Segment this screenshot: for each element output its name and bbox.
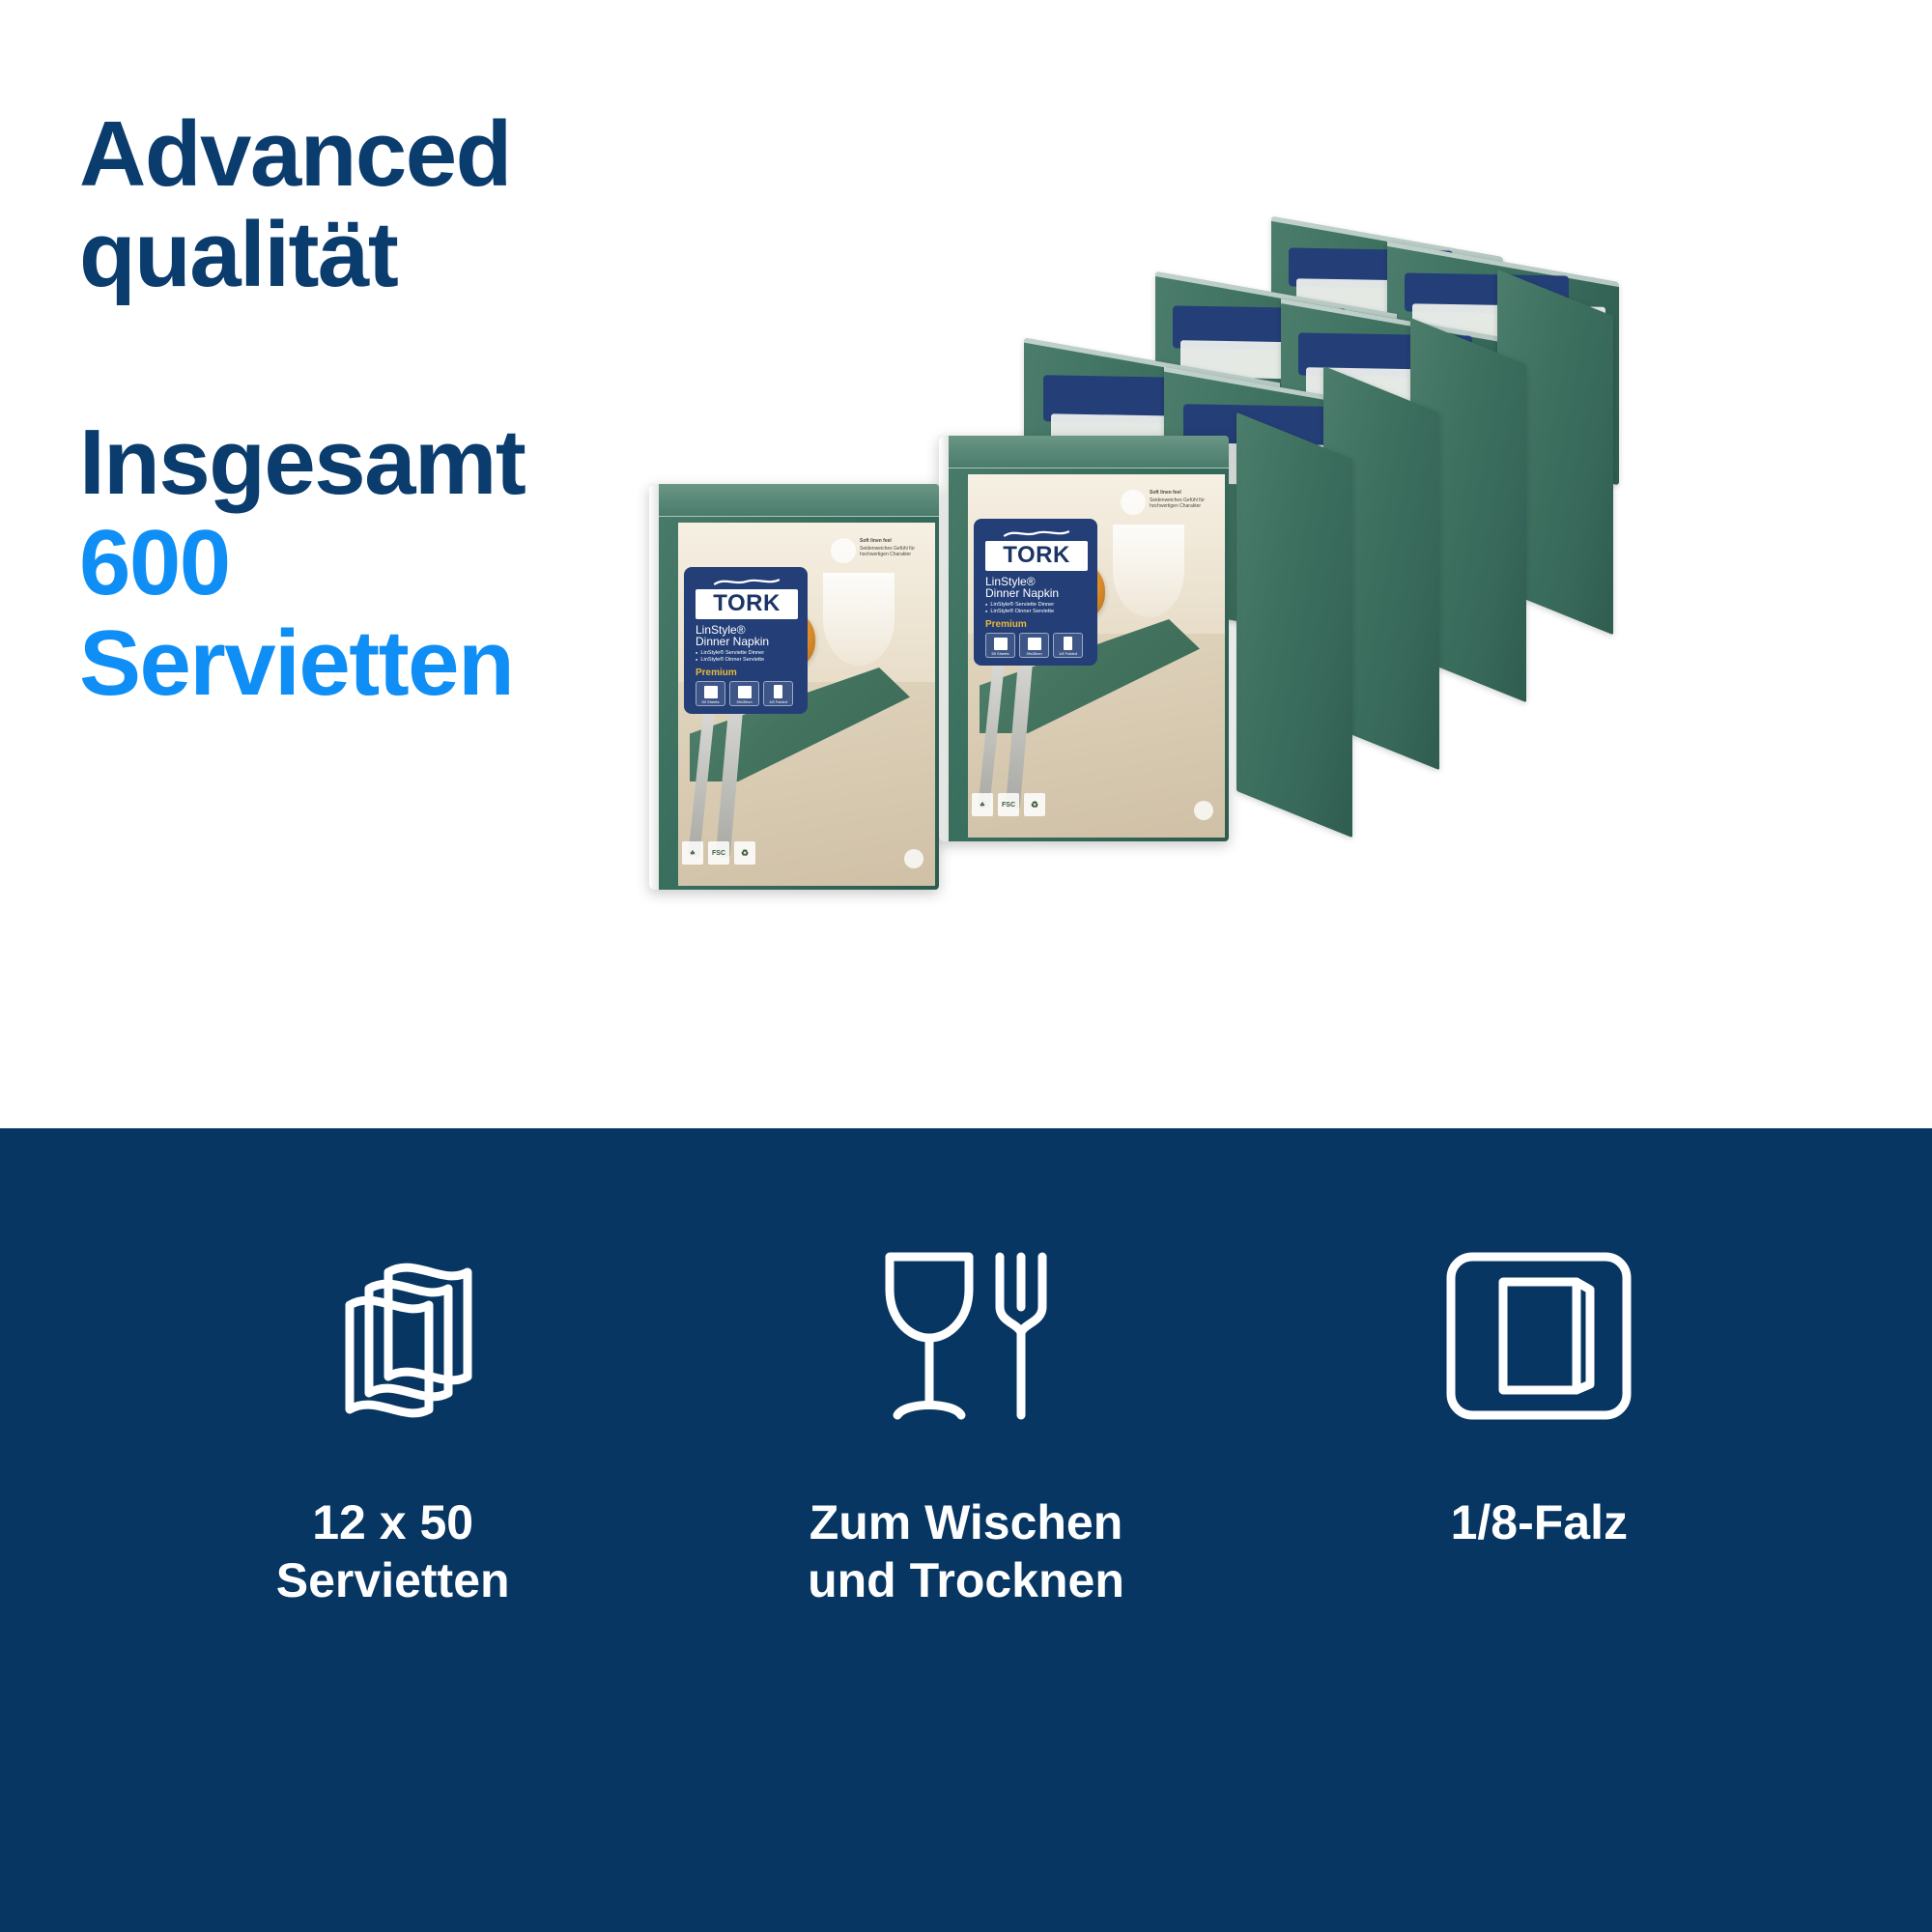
tork-seal-icon — [1194, 801, 1213, 820]
product-label: TORK LinStyle® Dinner Napkin LinStyle® S… — [684, 567, 808, 714]
product-label: TORK LinStyle® Dinner Napkin LinStyle® S… — [974, 519, 1097, 666]
fold-icon: 1/8 Folded — [763, 681, 793, 706]
soft-feel-icon — [831, 538, 856, 563]
sheets-icon: 50 Sheets — [696, 681, 725, 706]
soft-feel-icon — [1121, 490, 1146, 515]
box-white-edge — [939, 436, 949, 841]
feature-caption: 12 x 50 Servietten — [171, 1493, 615, 1609]
headline-gap — [79, 304, 755, 412]
product-pictograms: 50 Sheets 39x39cm 1/8 Folded — [696, 681, 798, 706]
product-bullet-2: LinStyle® Dinner Serviette — [985, 609, 1088, 615]
product-pictograms: 50 Sheets 39x39cm 1/8 Folded — [985, 633, 1088, 658]
headline-line-2: qualität — [79, 205, 755, 305]
soft-feel-text: Seidenweiches Gefühl für hochwertigen Ch… — [860, 546, 931, 557]
product-photo: TORK LinStyle® Dinner Napkin LinStyle® S… — [734, 237, 1874, 894]
feature-caption: 1/8-Falz — [1317, 1493, 1761, 1551]
product-bullet-2: LinStyle® Dinner Serviette — [696, 657, 798, 664]
certification-marks: ☘ FSC ♻ — [972, 793, 1045, 816]
top-section: Advanced qualität Insgesamt 600 Serviett… — [0, 0, 1932, 1128]
sheets-icon: 50 Sheets — [985, 633, 1015, 658]
tork-wave-icon — [696, 577, 798, 587]
fold-glyph — [1064, 637, 1072, 650]
stack-box — [1236, 412, 1352, 838]
certification-marks: ☘ FSC ♻ — [682, 841, 755, 865]
size-icon: 39x39cm — [729, 681, 759, 706]
fsc-icon: FSC — [998, 793, 1019, 816]
product-tier: Premium — [696, 668, 798, 678]
soft-feel-note: Soft linen feel Seidenweiches Gefühl für… — [860, 538, 931, 557]
feature-list: 12 x 50 Servietten — [0, 1128, 1932, 1932]
sheets-glyph — [704, 686, 718, 698]
sheets-glyph — [994, 638, 1008, 650]
product-bullets: LinStyle® Serviette Dinner LinStyle® Din… — [696, 650, 798, 664]
folded-napkin-icon — [1428, 1239, 1650, 1433]
feature-item: Zum Wischen und Trocknen — [744, 1225, 1188, 1609]
soft-feel-note: Soft linen feel Seidenweiches Gefühl für… — [1150, 490, 1221, 509]
box-white-edge — [649, 484, 659, 890]
fold-icon: 1/8 Folded — [1053, 633, 1083, 658]
hero-box-left: TORK LinStyle® Dinner Napkin LinStyle® S… — [649, 484, 939, 890]
box-stack: TORK LinStyle® Dinner Napkin LinStyle® S… — [734, 237, 1874, 894]
picto-caption: 1/8 Folded — [1059, 651, 1077, 657]
picto-caption: 50 Sheets — [991, 651, 1009, 657]
tork-logo: TORK — [696, 589, 798, 619]
hero-box-front: TORK LinStyle® Dinner Napkin LinStyle® S… — [649, 484, 939, 890]
headline-line-1: Advanced — [79, 104, 755, 205]
box-top-lid — [949, 436, 1229, 469]
napkin-stack-icon — [282, 1239, 504, 1433]
glass-and-fork-icon — [855, 1239, 1077, 1433]
fsc-icon: FSC — [708, 841, 729, 865]
feature-item: 12 x 50 Servietten — [171, 1225, 615, 1609]
size-glyph — [1028, 638, 1041, 650]
hero-box-right: TORK LinStyle® Dinner Napkin LinStyle® S… — [939, 436, 1229, 841]
wine-glass — [1113, 525, 1184, 617]
tork-wave-icon — [985, 528, 1088, 539]
picto-caption: 50 Sheets — [701, 699, 719, 705]
feature-panel: 12 x 50 Servietten — [0, 1128, 1932, 1932]
feature-icon-wrap — [171, 1225, 615, 1447]
product-type: Dinner Napkin — [985, 587, 1088, 599]
feature-icon-wrap — [744, 1225, 1188, 1447]
ecolabel-icon: ☘ — [682, 841, 703, 865]
feature-item: 1/8-Falz — [1317, 1225, 1761, 1551]
product-bullets: LinStyle® Serviette Dinner LinStyle® Din… — [985, 602, 1088, 615]
product-marketing-page: Advanced qualität Insgesamt 600 Serviett… — [0, 0, 1932, 1932]
wine-glass — [823, 573, 895, 666]
recycle-icon: ♻ — [1024, 793, 1045, 816]
feature-icon-wrap — [1317, 1225, 1761, 1447]
ecolabel-icon: ☘ — [972, 793, 993, 816]
feature-caption: Zum Wischen und Trocknen — [744, 1493, 1188, 1609]
size-glyph — [738, 686, 752, 698]
fold-glyph — [774, 685, 782, 698]
size-icon: 39x39cm — [1019, 633, 1049, 658]
soft-feel-title: Soft linen feel — [1150, 490, 1221, 496]
recycle-icon: ♻ — [734, 841, 755, 865]
box-top-lid — [659, 484, 939, 517]
soft-feel-title: Soft linen feel — [860, 538, 931, 544]
hero-box-front: TORK LinStyle® Dinner Napkin LinStyle® S… — [939, 436, 1229, 841]
picto-caption: 39x39cm — [736, 699, 752, 705]
picto-caption: 39x39cm — [1026, 651, 1041, 657]
picto-caption: 1/8 Folded — [769, 699, 787, 705]
product-type: Dinner Napkin — [696, 636, 798, 647]
soft-feel-text: Seidenweiches Gefühl für hochwertigen Ch… — [1150, 497, 1221, 509]
product-tier: Premium — [985, 619, 1088, 630]
tork-seal-icon — [904, 849, 923, 868]
tork-logo: TORK — [985, 541, 1088, 571]
